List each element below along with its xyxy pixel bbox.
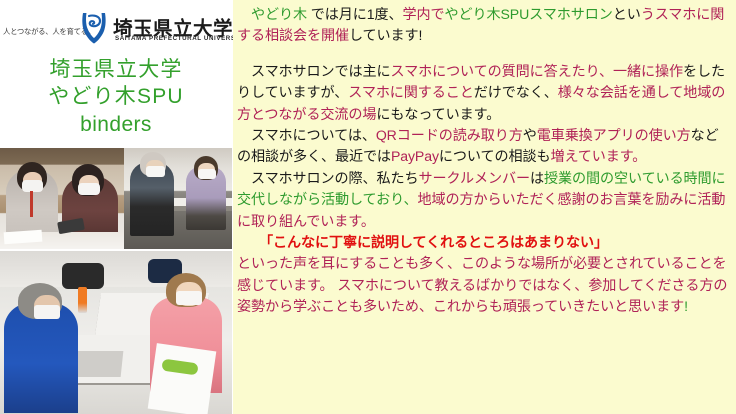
text-run: といった声を耳にすることも多く、このような場所が必要とされて bbox=[237, 255, 657, 271]
text-run-exclamation: ! bbox=[684, 298, 688, 314]
text-run-qr: QRコードの読み取り方 bbox=[376, 127, 523, 143]
article-text-panel: やどり木 では月に1度、学内でやどり木SPUスマホサロンというスマホに関する相談… bbox=[233, 0, 736, 414]
page-title: 埼玉県立大学 やどり木SPU binders bbox=[0, 56, 232, 138]
title-line-3: binders bbox=[0, 111, 232, 138]
text-run: 学内で bbox=[403, 6, 445, 22]
text-run: や bbox=[523, 127, 537, 143]
text-run: スマホについては、 bbox=[237, 127, 376, 143]
text-run: 一緒に操作 bbox=[613, 63, 683, 79]
paragraph-members: スマホサロンの際、私たちサークルメンバーは授業の間の空いている時間に交代しながら… bbox=[237, 168, 730, 232]
quote-text: 「こんなに丁寧に説明してくれるところはあまりない」 bbox=[259, 234, 608, 250]
university-logo-band: 人とつながる、人を育てる。 埼玉県立大学 SAITAMA PREFECTURAL… bbox=[0, 4, 232, 46]
title-line-1: 埼玉県立大学 bbox=[0, 56, 232, 83]
text-run: だけでなく、 bbox=[474, 84, 558, 100]
text-run bbox=[237, 6, 251, 22]
text-run: にもなってい bbox=[376, 106, 459, 122]
title-line-2: やどり木SPU bbox=[0, 83, 232, 110]
paragraph-activities: スマホサロンでは主にスマホについての質問に答えたり、一緒に操作をしたりしています… bbox=[237, 61, 730, 125]
text-run: とい bbox=[613, 6, 641, 22]
text-run: 授業の間の空い bbox=[544, 170, 642, 186]
text-run: しています! bbox=[349, 27, 422, 43]
text-run: ます。 bbox=[460, 106, 501, 122]
photo-gallery bbox=[0, 148, 232, 414]
text-run: は bbox=[530, 170, 544, 186]
text-run: 頑張っていきたいと思います bbox=[503, 298, 684, 314]
photo-salon-table-session bbox=[124, 148, 232, 249]
testimonial-quote: 「こんなに丁寧に説明してくれるところはあまりない」 bbox=[237, 232, 730, 253]
text-run: スマホサロンでは主に bbox=[237, 63, 391, 79]
text-run: についての相談も bbox=[439, 148, 551, 164]
slide-root: 人とつながる、人を育てる。 埼玉県立大学 SAITAMA PREFECTURAL… bbox=[0, 0, 736, 414]
text-run-members: サークルメンバー bbox=[419, 170, 531, 186]
text-run: スマホに関すること bbox=[348, 84, 474, 100]
text-run: では月に1度、 bbox=[307, 6, 403, 22]
text-run-transit-app: 電車乗換アプリの bbox=[537, 127, 649, 143]
text-run-yadorigi: やどり木 bbox=[251, 6, 307, 22]
paragraph-intro: やどり木 では月に1度、学内でやどり木SPUスマホサロンというスマホに関する相談… bbox=[237, 4, 730, 47]
photo-classroom-salon-wide bbox=[0, 251, 232, 414]
left-column: 人とつながる、人を育てる。 埼玉県立大学 SAITAMA PREFECTURAL… bbox=[0, 0, 232, 414]
text-run: スマホについての質問に答えたり、 bbox=[391, 63, 614, 79]
text-run-paypay: PayPay bbox=[391, 148, 439, 164]
text-run: 使い方 bbox=[649, 127, 691, 143]
text-run: スマホサロンの際、私たち bbox=[237, 170, 419, 186]
paragraph-topics: スマホについては、QRコードの読み取り方や電車乗換アプリの使い方などの相談が多く… bbox=[237, 125, 730, 168]
text-run-salon-name: やどり木SPUスマホサロン bbox=[445, 6, 613, 22]
text-run: 増えています。 bbox=[550, 148, 646, 164]
saitama-prefectural-university-logo-icon bbox=[79, 11, 109, 45]
paragraph-spacer bbox=[237, 47, 730, 61]
university-name-en: SAITAMA PREFECTURAL UNIVERSITY bbox=[115, 35, 247, 42]
text-run: 地域の方からいただく bbox=[418, 191, 558, 207]
paragraph-closing: といった声を耳にすることも多く、このような場所が必要とされていることを感じていま… bbox=[237, 253, 730, 317]
photo-smartphone-salon-consultation bbox=[0, 148, 124, 249]
